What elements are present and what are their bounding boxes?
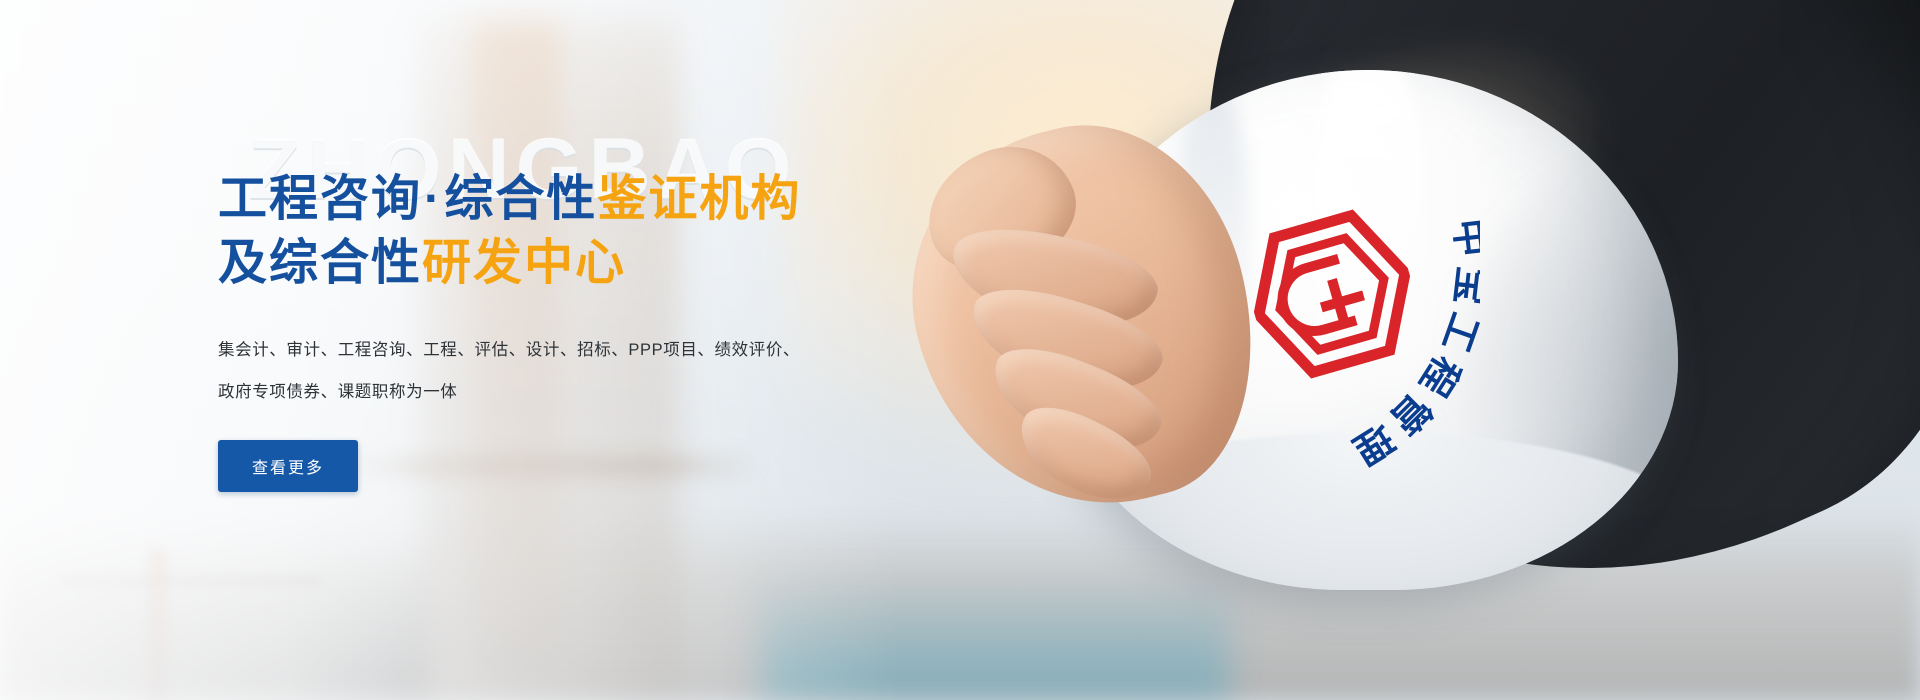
headline-segment-blue-c: 及综合性 xyxy=(218,236,422,290)
description-line-2: 政府专项债券、课题职称为一体 xyxy=(218,383,457,401)
hero-copy: ZHONGBAO 工程咨询·综合性鉴证机构 及综合性研发中心 集会计、审计、工程… xyxy=(218,120,978,492)
description-line-1: 集会计、审计、工程咨询、工程、评估、设计、招标、PPP项目、绩效评价、 xyxy=(218,341,800,359)
headline-line-1: 工程咨询·综合性鉴证机构 xyxy=(218,168,978,232)
view-more-button[interactable]: 查看更多 xyxy=(218,440,358,492)
headline-segment-blue-a: 工程咨询 xyxy=(218,172,422,226)
page-title: 工程咨询·综合性鉴证机构 及综合性研发中心 xyxy=(218,168,978,295)
headline-segment-blue-b: 综合性 xyxy=(444,172,597,226)
headline-line-2: 及综合性研发中心 xyxy=(218,232,978,296)
headline-separator-dot: · xyxy=(422,172,444,226)
headline-segment-gold-b: 研发中心 xyxy=(422,236,626,290)
hero-banner: 中宝工程管理 ZHONGBAO 工程咨询·综合性鉴证机构 及综合性研发中心 xyxy=(0,0,1920,700)
headline-segment-gold-a: 鉴证机构 xyxy=(597,172,801,226)
hero-description: 集会计、审计、工程咨询、工程、评估、设计、招标、PPP项目、绩效评价、 政府专项… xyxy=(218,329,818,413)
